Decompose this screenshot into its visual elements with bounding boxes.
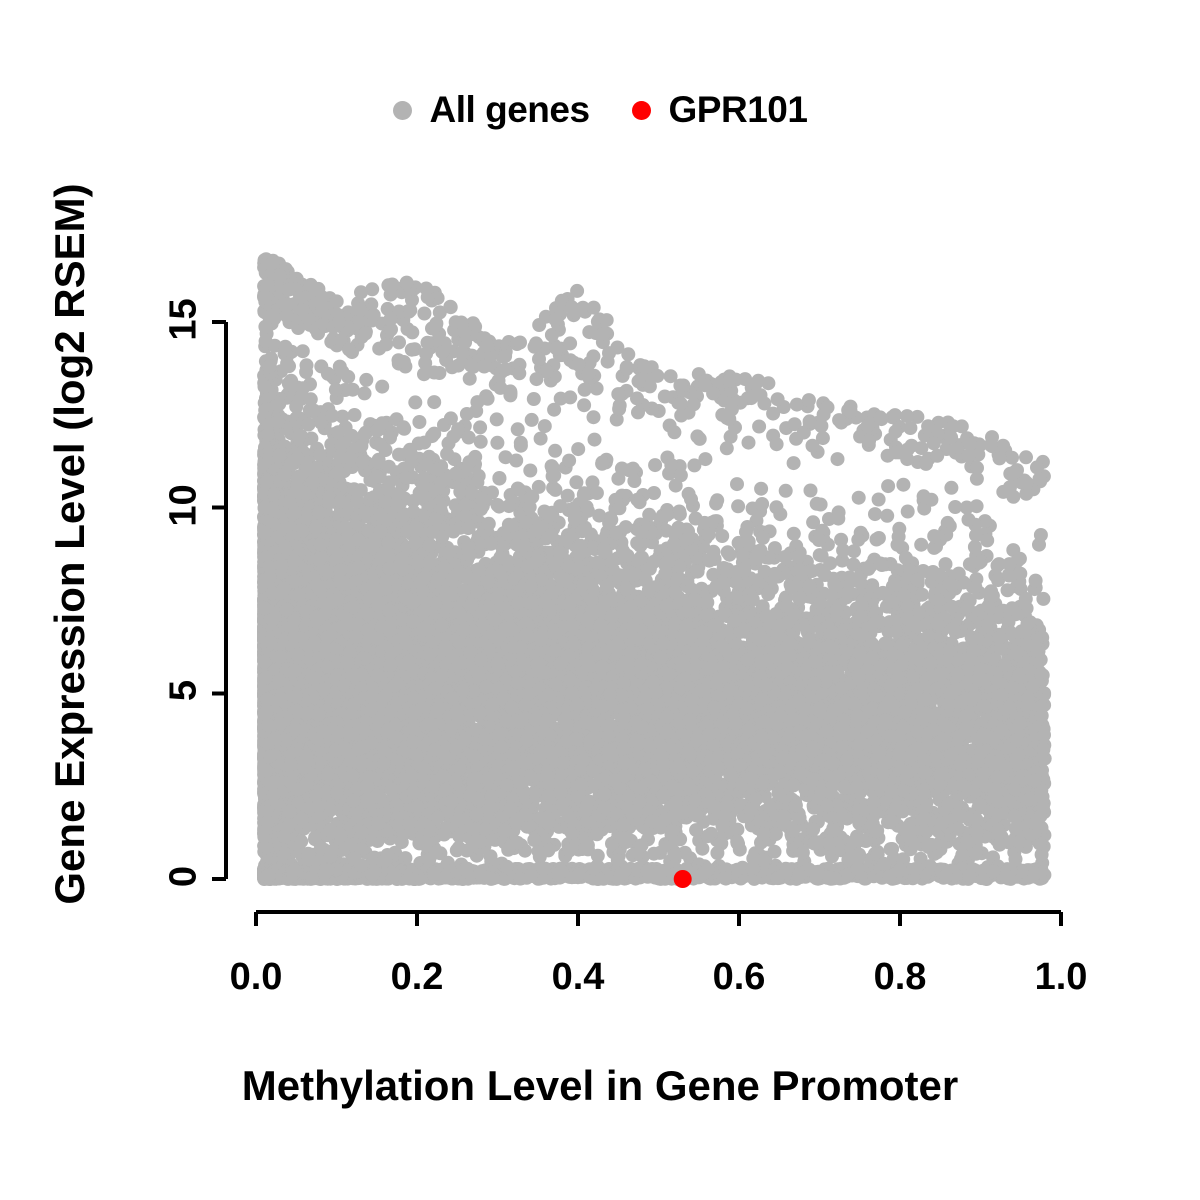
plot-canvas: [0, 0, 1200, 1200]
y-axis-title: Gene Expression Level (log2 RSEM): [46, 183, 93, 904]
y-tick-label-1: 5: [163, 661, 206, 721]
x-tick-label-3: 0.6: [713, 956, 766, 999]
x-axis-title: Methylation Level in Gene Promoter: [0, 1062, 1200, 1110]
y-tick-label-3: 15: [163, 290, 206, 350]
y-tick-label-0: 0: [163, 847, 206, 907]
x-tick-label-0: 0.0: [230, 956, 283, 999]
y-tick-label-2: 10: [163, 475, 206, 535]
x-tick-label-5: 1.0: [1035, 956, 1088, 999]
highlight-point-layer: [674, 870, 692, 888]
scatter-plot-figure: All genes GPR101 0.00.20.40.60.81.0 0510…: [0, 0, 1200, 1200]
x-tick-label-4: 0.8: [874, 956, 927, 999]
x-tick-label-1: 0.2: [391, 956, 444, 999]
data-points-layer: [257, 252, 1052, 886]
x-tick-label-2: 0.4: [552, 956, 605, 999]
gpr101-data-point: [674, 870, 692, 888]
y-axis-title-wrap: Gene Expression Level (log2 RSEM): [46, 144, 94, 944]
